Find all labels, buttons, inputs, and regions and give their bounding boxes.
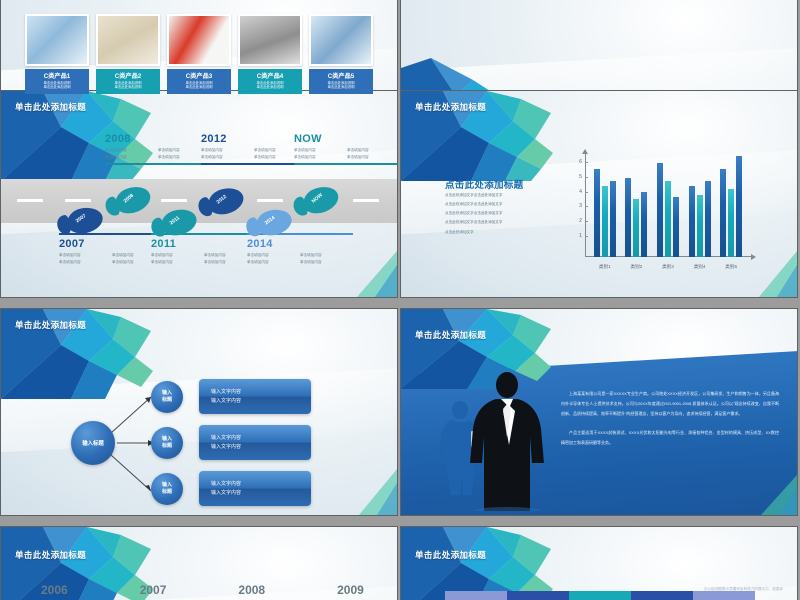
product-card-label: C类产品1 单击此处添加说明 单击此处添加说明 [25,69,89,94]
timeline-year: 2014 [247,238,353,250]
mindmap-center-node[interactable]: 输入标题 [71,421,115,465]
timeline-line: 单击填加内容 [201,154,254,161]
bar-chart: 123456 类别1类别2类别3类别4类别5 [571,153,751,271]
product-card[interactable]: C类产品4 单击此处添加说明 单击此处添加说明 [238,14,302,94]
timeline-line: 单击填加内容 [247,259,300,266]
timeline-year: 2008 [105,133,211,145]
chart-bar-group [715,156,747,257]
chart-body-line: 点击此处添加文字点击此处添加文字 [445,200,523,209]
timeline-rule [294,163,398,165]
product-sub-2: 单击此处添加说明 [169,85,229,89]
slide-thumbnail-timeline[interactable]: 单击此处添加标题 2008 单击填加内容 单击填加内容 单击填加内容 单击填加内… [0,90,398,298]
product-photo [25,14,89,66]
chart-x-labels: 类别1类别2类别3类别4类别5 [589,264,747,270]
product-title: C类产品4 [240,73,300,81]
chart-y-tick: 4 [571,189,585,195]
timeline-year: 2012 [201,133,307,145]
product-card-list: C类产品1 单击此处添加说明 单击此处添加说明 C类产品2 单击此处添加说明 单… [25,14,373,94]
mindmap-branch-node-2[interactable]: 输入标题 [151,427,183,459]
product-card[interactable]: C类产品1 单击此处添加说明 单击此处添加说明 [25,14,89,94]
year-label: 2008 [238,583,265,597]
mindmap-center-label: 输入标题 [82,439,104,447]
timeline-line: 单击填加内容 [347,154,398,161]
timeline-year: NOW [294,133,398,145]
chart-bar [736,156,742,257]
colorbar-segment [569,591,631,600]
timeline-rule [105,163,211,165]
chart-bar-group [621,178,653,257]
product-card[interactable]: C类产品5 单击此处添加说明 单击此处添加说明 [309,14,373,94]
product-title: C类产品2 [98,73,158,81]
chart-bars [589,153,747,257]
slide-title: 单击此处添加标题 [415,329,486,341]
product-sub-2: 单击此处添加说明 [240,85,300,89]
chart-bar [705,181,711,257]
chart-body-line: 点击此处添加文字 [445,228,523,237]
businessman-silhouette-icon [463,371,551,511]
mindmap-branch-label: 输入标题 [162,482,172,496]
chart-bar [625,178,631,257]
chart-y-tick: 2 [571,218,585,224]
product-photo [96,14,160,66]
chart-bar [657,163,663,257]
product-card[interactable]: C类产品3 单击此处添加说明 单击此处添加说明 [167,14,231,94]
product-title: C类产品1 [27,73,87,81]
box-line-2: 输入文字内容 [211,444,241,450]
timeline-line: 单击填加内容 [151,252,204,259]
product-card-label: C类产品3 单击此处添加说明 单击此处添加说明 [167,69,231,94]
product-title: C类产品3 [169,73,229,81]
timeline-lines: 单击填加内容 单击填加内容 单击填加内容 单击填加内容 [105,147,211,161]
timeline-lines: 单击填加内容 单击填加内容 单击填加内容 单击填加内容 [201,147,307,161]
chart-x-label: 类别2 [621,264,653,270]
chart-bar-group [684,181,716,257]
chart-caption-block: 点击此处添加标题 点击此处添加文字点击此处添加文字 点击此处添加文字点击此处添加… [445,177,523,237]
chart-body-line: 点击此处添加文字点击此处添加文字 [445,209,523,218]
chart-body-line: 点击此处添加文字点击此处添加文字 [445,218,523,227]
chart-bar [594,169,600,257]
timeline-line: 单击填加内容 [294,147,347,154]
slide-title: 单击此处添加标题 [15,549,86,561]
chart-bar [602,186,608,257]
chart-bar [697,195,703,257]
slide-thumbnail-bar-chart[interactable]: 单击此处添加标题 点击此处添加标题 点击此处添加文字点击此处添加文字 点击此处添… [400,90,798,298]
timeline-entry-now[interactable]: NOW 单击填加内容 单击填加内容 单击填加内容 单击填加内容 [294,133,398,165]
timeline-line: 单击填加内容 [300,252,353,259]
year-label: 2006 [41,583,68,597]
product-card[interactable]: C类产品2 单击此处添加说明 单击此处添加说明 [96,14,160,94]
timeline-entry-2012[interactable]: 2012 单击填加内容 单击填加内容 单击填加内容 单击填加内容 [201,133,307,165]
chart-bar [673,197,679,257]
chart-bar [633,199,639,257]
chart-bar [641,192,647,257]
box-line-1: 输入文字内容 [211,389,241,395]
product-sub-2: 单击此处添加说明 [311,85,371,89]
chart-x-label: 类别4 [684,264,716,270]
colorbar-segment [631,591,693,600]
product-photo [309,14,373,66]
slide-title: 单击此处添加标题 [15,101,86,113]
mindmap-text-box-1[interactable]: 输入文字内容 输入文字内容 [199,379,311,414]
timeline-line: 单击填加内容 [294,154,347,161]
timeline-line: 单击填加内容 [300,259,353,266]
mindmap-text-box-2[interactable]: 输入文字内容 输入文字内容 [199,425,311,460]
template-preview-grid: C类产品1 单击此处添加说明 单击此处添加说明 C类产品2 单击此处添加说明 单… [0,0,800,600]
chart-body-line: 点击此处添加文字点击此处添加文字 [445,191,523,200]
slide-thumbnail-company-profile[interactable]: 单击此处添加标题 上海某某有限公司是一家XXXXX专业生产商。公司地处XXXX经… [400,308,798,516]
chart-y-tick: 1 [571,233,585,239]
year-row: 2006 2007 2008 2009 [41,583,364,597]
chart-x-label: 类别5 [715,264,747,270]
colorbar-segment [445,591,507,600]
slide-thumbnail-mindmap[interactable]: 单击此处添加标题 输入标题 输入标题 输入标题 输入标题 输入文字内容 输入文字… [0,308,398,516]
mindmap-text-box-3[interactable]: 输入文字内容 输入文字内容 [199,471,311,506]
chart-bar-group [589,169,621,257]
chart-x-label: 类别3 [652,264,684,270]
chart-bar [610,181,616,257]
colorbar-row [445,591,755,600]
chart-bar [720,169,726,257]
mindmap-branch-label: 输入标题 [162,436,172,450]
timeline-line: 单击填加内容 [151,259,204,266]
slide-title: 单击此处添加标题 [15,319,86,331]
chart-bar [728,189,734,257]
timeline-line: 单击填加内容 [247,252,300,259]
timeline-line: 单击填加内容 [59,252,112,259]
timeline-lines: 单击填加内容 单击填加内容 单击填加内容 单击填加内容 [294,147,398,161]
timeline-year: 2011 [151,238,257,250]
footer-note: 办公培训图表示意模块及有效力的提示力，信息你 [704,587,783,592]
chart-y-tick: 6 [571,159,585,165]
chart-y-tick: 3 [571,203,585,209]
timeline-line: 单击填加内容 [201,147,254,154]
product-photo [167,14,231,66]
timeline-lines: 单击填加内容 单击填加内容 单击填加内容 单击填加内容 [151,252,257,266]
chart-y-tick: 5 [571,174,585,180]
polygon-decoration-icon [727,475,797,515]
timeline-lines: 单击填加内容 单击填加内容 单击填加内容 单击填加内容 [247,252,353,266]
product-photo [238,14,302,66]
profile-paragraph-2: 产品主要适用于XXXX封装测试、XXXX光伏和太阳能光电等行业、承接各种铝合、金… [561,428,779,448]
colorbar-segment [693,591,755,600]
timeline-line: 单击填加内容 [105,147,158,154]
profile-paragraph-1: 上海某某有限公司是一家XXXXX专业生产商。公司地处XXXX经济开发区，公司集研… [561,389,779,420]
box-line-1: 输入文字内容 [211,435,241,441]
chart-bar-group [652,163,684,257]
chart-bar [689,186,695,257]
timeline-lines: 单击填加内容 单击填加内容 单击填加内容 单击填加内容 [59,252,165,266]
slide-thumbnail-years[interactable]: 单击此处添加标题 2006 2007 2008 2009 [0,526,398,600]
mindmap-branch-label: 输入标题 [162,390,172,404]
timeline-entry-2007[interactable]: 2007 单击填加内容 单击填加内容 单击填加内容 单击填加内容 [59,231,165,266]
chart-y-axis [585,153,586,257]
timeline-line: 单击填加内容 [347,147,398,154]
timeline-line: 单击填加内容 [105,154,158,161]
product-card-label: C类产品5 单击此处添加说明 单击此处添加说明 [309,69,373,94]
timeline-line: 单击填加内容 [59,259,112,266]
y-axis-arrow-icon [582,149,588,154]
year-label: 2009 [337,583,364,597]
colorbar-segment [507,591,569,600]
box-line-2: 输入文字内容 [211,490,241,496]
product-title: C类产品5 [311,73,371,81]
product-card-label: C类产品2 单击此处添加说明 单击此处添加说明 [96,69,160,94]
chart-heading: 点击此处添加标题 [445,177,523,191]
product-sub-2: 单击此处添加说明 [98,85,158,89]
chart-bar [665,181,671,257]
mindmap-branch-node-1[interactable]: 输入标题 [151,381,183,413]
slide-thumbnail-colorbars[interactable]: 单击此处添加标题 办公培训图表示意模块及有效力的提示力，信息你 [400,526,798,600]
product-card-label: C类产品4 单击此处添加说明 单击此处添加说明 [238,69,302,94]
company-profile-text: 上海某某有限公司是一家XXXXX专业生产商。公司地处XXXX经济开发区，公司集研… [561,389,779,448]
timeline-rule [201,163,307,165]
x-axis-arrow-icon [751,254,756,260]
box-line-1: 输入文字内容 [211,481,241,487]
product-sub-2: 单击此处添加说明 [27,85,87,89]
timeline-entry-2008[interactable]: 2008 单击填加内容 单击填加内容 单击填加内容 单击填加内容 [105,133,211,165]
chart-x-label: 类别1 [589,264,621,270]
slide-title: 单击此处添加标题 [415,101,486,113]
slide-title: 单击此处添加标题 [415,549,486,561]
polygon-decoration-icon [401,527,591,600]
timeline-year: 2007 [59,238,165,250]
box-line-2: 输入文字内容 [211,398,241,404]
year-label: 2007 [140,583,167,597]
mindmap-branch-node-3[interactable]: 输入标题 [151,473,183,505]
